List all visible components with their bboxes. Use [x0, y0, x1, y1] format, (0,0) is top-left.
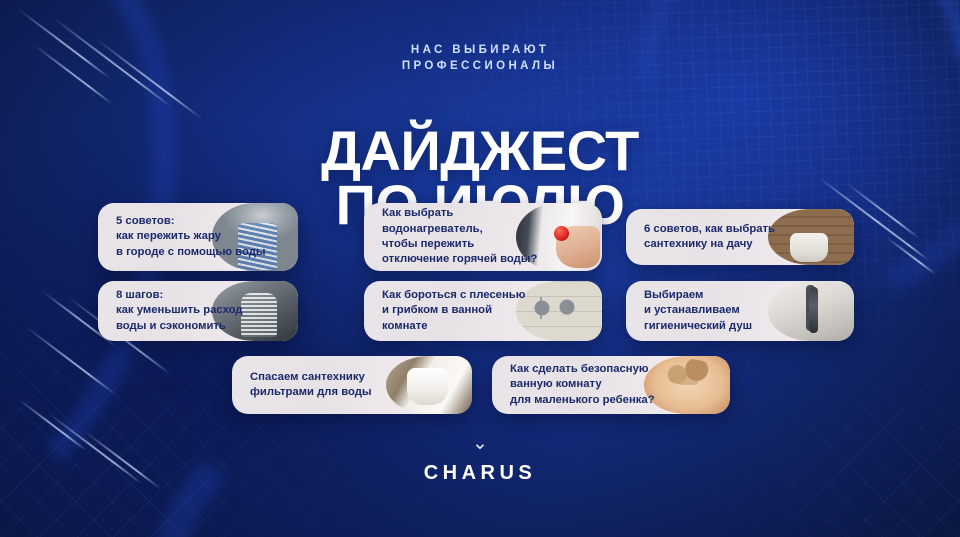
digest-card[interactable]: Как сделать безопасную ванную комнату дл…	[492, 356, 730, 414]
swirl-arc-bottom	[126, 322, 755, 537]
card-thumbnail	[516, 281, 602, 341]
card-thumbnail	[644, 356, 730, 414]
eyebrow-text: НАС ВЫБИРАЮТ ПРОФЕССИОНАЛЫ	[0, 42, 960, 74]
eyebrow-line-1: НАС ВЫБИРАЮТ	[411, 44, 549, 56]
card-thumbnail	[768, 209, 854, 265]
card-thumbnail	[768, 281, 854, 341]
card-thumbnail	[386, 356, 472, 414]
card-title: 6 советов, как выбрать сантехнику на дач…	[626, 222, 775, 253]
card-title: Выбираем и устанавливаем гигиенический д…	[626, 288, 752, 334]
card-title: 8 шагов: как уменьшить расход воды и сэк…	[98, 288, 243, 334]
digest-card[interactable]: Спасаем сантехнику фильтрами для воды	[232, 356, 472, 414]
digest-card[interactable]: Как бороться с плесенью и грибком в ванн…	[364, 281, 602, 341]
digest-card[interactable]: 6 советов, как выбрать сантехнику на дач…	[626, 209, 854, 265]
chevron-down-icon: ⌄	[0, 434, 960, 453]
digest-card[interactable]: Выбираем и устанавливаем гигиенический д…	[626, 281, 854, 341]
brand-logo: CHARUS	[0, 462, 960, 485]
digest-card[interactable]: 5 советов: как пережить жару в городе с …	[98, 203, 298, 271]
card-title: 5 советов: как пережить жару в городе с …	[98, 214, 266, 260]
card-title: Как бороться с плесенью и грибком в ванн…	[364, 288, 525, 334]
digest-card[interactable]: 8 шагов: как уменьшить расход воды и сэк…	[98, 281, 298, 341]
digest-card[interactable]: Как выбрать водонагреватель, чтобы переж…	[364, 203, 602, 271]
eyebrow-line-2: ПРОФЕССИОНАЛЫ	[0, 58, 960, 74]
digest-poster: НАС ВЫБИРАЮТ ПРОФЕССИОНАЛЫ ДАЙДЖЕСТ ПО И…	[0, 0, 960, 537]
card-title: Как выбрать водонагреватель, чтобы переж…	[364, 206, 537, 268]
card-title: Как сделать безопасную ванную комнату дл…	[492, 362, 655, 408]
card-title: Спасаем сантехнику фильтрами для воды	[232, 370, 372, 401]
